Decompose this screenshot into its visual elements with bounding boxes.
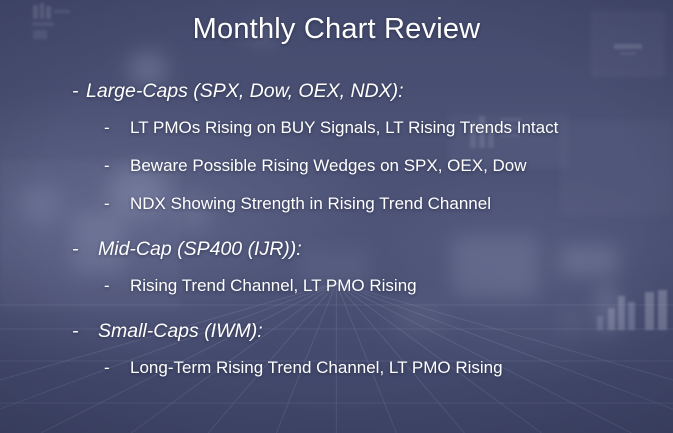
bullet-list: - Large-Caps (SPX, Dow, OEX, NDX): - LT … xyxy=(0,80,673,396)
list-item: - LT PMOs Rising on BUY Signals, LT Risi… xyxy=(0,118,673,156)
list-item-label: Large-Caps (SPX, Dow, OEX, NDX): xyxy=(86,80,404,103)
bullet-dash: - xyxy=(104,194,130,214)
list-item-label: Small-Caps (IWM): xyxy=(98,320,263,343)
page-title: Monthly Chart Review xyxy=(0,13,673,46)
bullet-dash: - xyxy=(104,276,130,296)
list-item-label: LT PMOs Rising on BUY Signals, LT Rising… xyxy=(130,118,558,138)
list-item: - Large-Caps (SPX, Dow, OEX, NDX): xyxy=(0,80,673,118)
presentation-slide: Monthly Chart Review - Large-Caps (SPX, … xyxy=(0,0,673,433)
list-item-label: NDX Showing Strength in Rising Trend Cha… xyxy=(130,194,491,214)
list-item-label: Long-Term Rising Trend Channel, LT PMO R… xyxy=(130,358,503,378)
list-item: - Long-Term Rising Trend Channel, LT PMO… xyxy=(0,358,673,396)
bullet-dash: - xyxy=(72,320,98,343)
list-item: - Beware Possible Rising Wedges on SPX, … xyxy=(0,156,673,194)
list-item-label: Rising Trend Channel, LT PMO Rising xyxy=(130,276,417,296)
bullet-dash: - xyxy=(104,118,130,138)
list-item: - NDX Showing Strength in Rising Trend C… xyxy=(0,194,673,232)
slide-content: Monthly Chart Review - Large-Caps (SPX, … xyxy=(0,0,673,433)
list-item-label: Beware Possible Rising Wedges on SPX, OE… xyxy=(130,156,527,176)
bullet-dash: - xyxy=(104,156,130,176)
bullet-dash: - xyxy=(72,80,86,103)
bullet-dash: - xyxy=(72,238,98,261)
list-item: - Small-Caps (IWM): xyxy=(0,320,673,358)
bullet-dash: - xyxy=(104,358,130,378)
list-item: - Mid-Cap (SP400 (IJR)): xyxy=(0,238,673,276)
list-item-label: Mid-Cap (SP400 (IJR)): xyxy=(98,238,302,261)
list-item: - Rising Trend Channel, LT PMO Rising xyxy=(0,276,673,314)
